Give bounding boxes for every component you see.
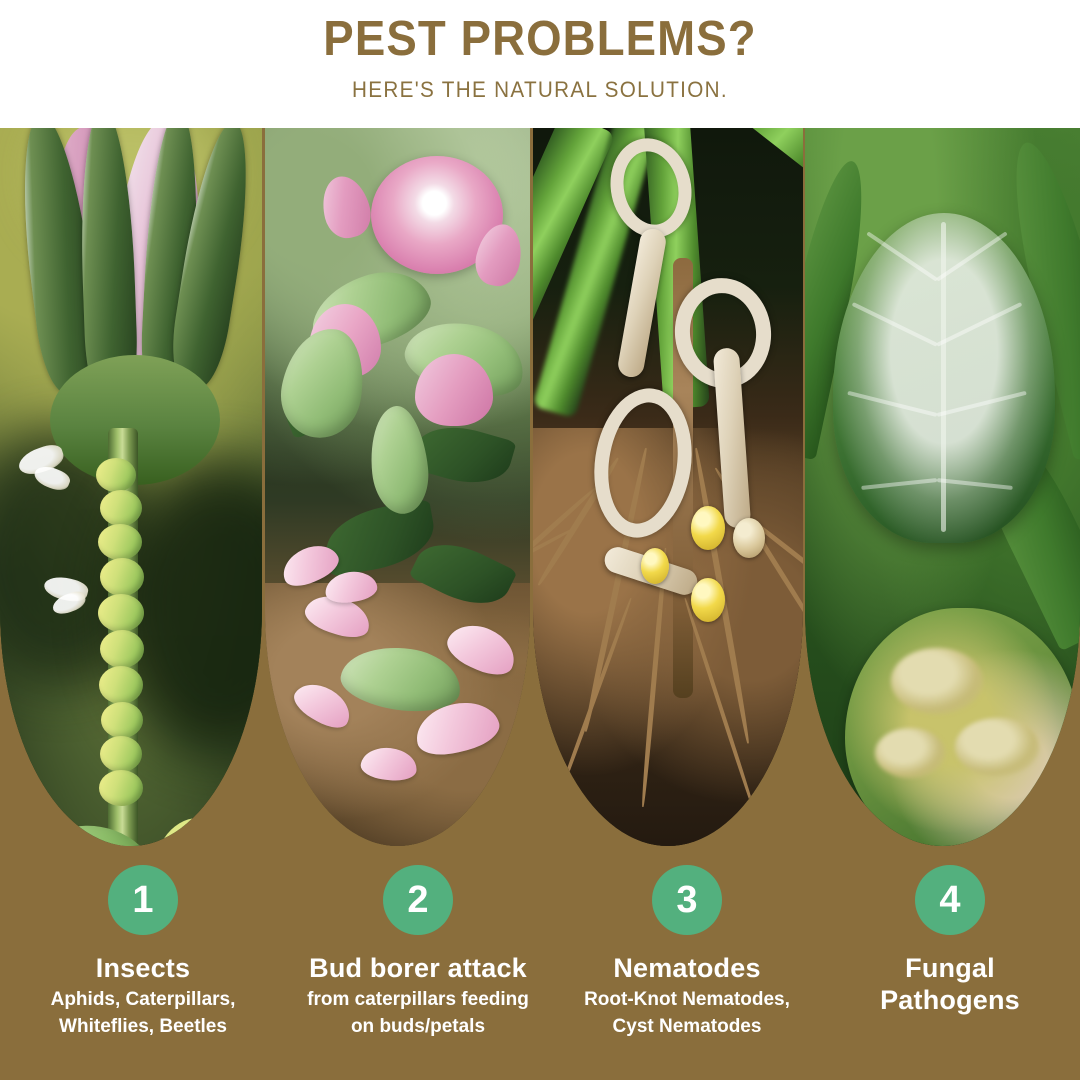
aphid-5 (98, 594, 144, 632)
pest-image-strip (0, 128, 1080, 848)
badge-number-1: 1 (108, 865, 178, 935)
legend-heading-4-line1: Fungal (815, 953, 1080, 983)
nematode-cyst-2 (733, 518, 765, 558)
leaf-midrib (941, 222, 946, 532)
legend-subheading-2-line1: from caterpillars feeding (283, 988, 553, 1013)
spinach-leaf-lesions (845, 608, 1080, 846)
legend-item-1[interactable]: 1 Insects Aphids, Caterpillars, Whitefli… (8, 848, 278, 1040)
pest-image-panel-3[interactable] (533, 128, 803, 846)
legend-subheading-1-line2: Whiteflies, Beetles (8, 1015, 278, 1040)
aphid-4 (100, 558, 144, 596)
nematode-cyst-4 (691, 578, 725, 622)
rose-bud (20, 128, 250, 480)
legend-subheading-1-line1: Aphids, Caterpillars, (8, 988, 278, 1013)
legend-subheading-3-line2: Cyst Nematodes (552, 1015, 822, 1040)
legend-subheading-3-line1: Root-Knot Nematodes, (552, 988, 822, 1013)
header-banner: PEST PROBLEMS? HERE'S THE NATURAL SOLUTI… (0, 0, 1080, 128)
legend-item-2[interactable]: 2 Bud borer attack from caterpillars fee… (283, 848, 553, 1040)
fungal-lesion-2 (955, 718, 1039, 776)
legend-heading-2: Bud borer attack (283, 953, 553, 983)
legend-heading-1: Insects (8, 953, 278, 983)
page-subtitle: HERE'S THE NATURAL SOLUTION. (352, 77, 728, 103)
legend-item-4[interactable]: 4 Fungal Pathogens (815, 848, 1080, 1015)
pest-image-panel-4[interactable] (805, 128, 1080, 846)
aphid-7 (99, 666, 143, 704)
aphid-1 (96, 458, 136, 492)
legend-item-3[interactable]: 3 Nematodes Root-Knot Nematodes, Cyst Ne… (552, 848, 822, 1040)
legend-heading-4-line2: Pathogens (815, 985, 1080, 1015)
nematode-cyst-3 (641, 548, 669, 584)
bud-borer-photo (265, 128, 530, 846)
aphid-3 (98, 524, 142, 560)
aphid-9 (100, 736, 142, 772)
pest-legend: 1 Insects Aphids, Caterpillars, Whitefli… (0, 848, 1080, 1080)
aphid-8 (101, 702, 143, 738)
page-title: PEST PROBLEMS? (323, 14, 756, 65)
aphid-2 (100, 490, 142, 526)
legend-heading-3: Nematodes (552, 953, 822, 983)
fungal-lesion-1 (891, 648, 983, 714)
badge-number-2: 2 (383, 865, 453, 935)
pest-image-panel-2[interactable] (265, 128, 530, 846)
aphid-10 (99, 770, 143, 806)
legend-subheading-2-line2: on buds/petals (283, 1015, 553, 1040)
insects-photo (0, 128, 262, 846)
fungal-pathogens-photo (805, 128, 1080, 846)
fungal-lesion-3 (875, 728, 945, 778)
badge-number-4: 4 (915, 865, 985, 935)
aphid-6 (100, 630, 144, 668)
nematodes-photo (533, 128, 803, 846)
badge-number-3: 3 (652, 865, 722, 935)
nematode-cyst-1 (691, 506, 725, 550)
pest-image-panel-1[interactable] (0, 128, 262, 846)
